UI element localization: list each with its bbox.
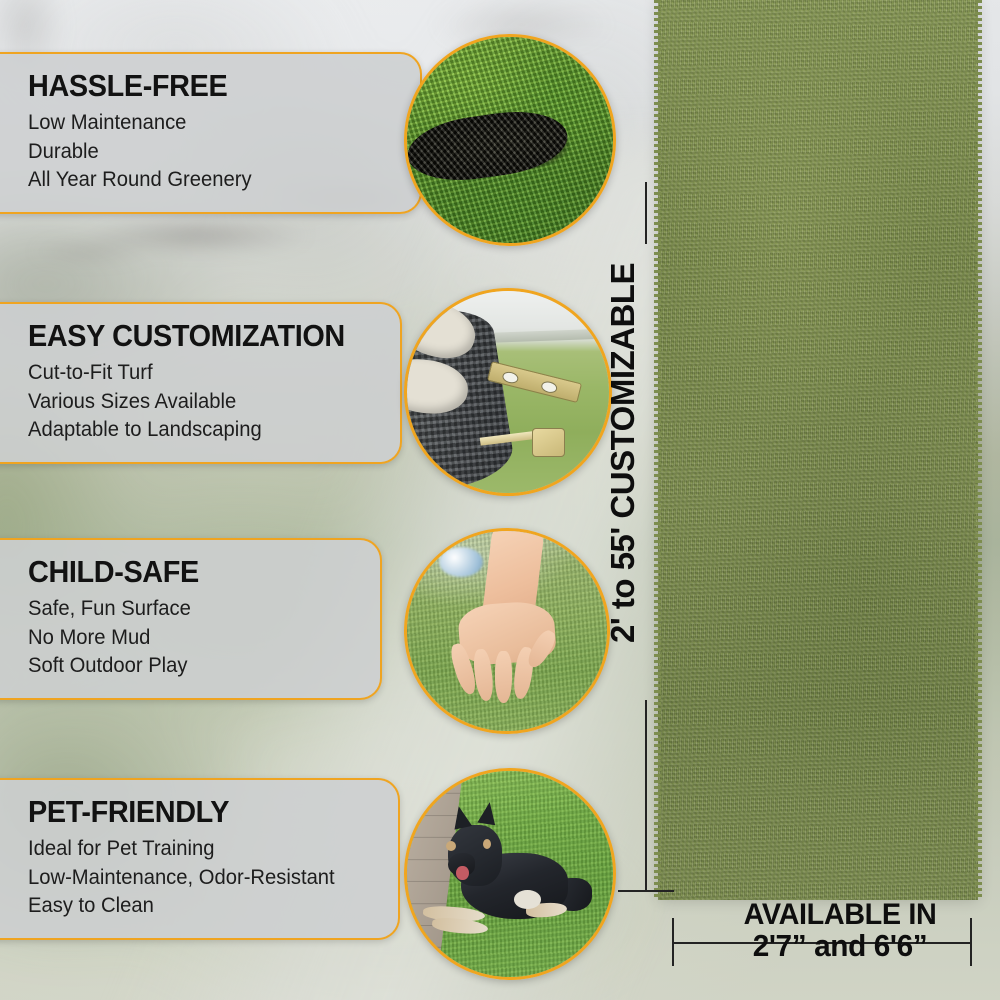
- feature-panel-pet-friendly: PET-FRIENDLY Ideal for Pet Training Low-…: [0, 778, 400, 940]
- feature-bullet: Safe, Fun Surface: [28, 594, 340, 623]
- feature-panel-bullets: Safe, Fun Surface No More Mud Soft Outdo…: [28, 594, 360, 680]
- feature-bullet: Various Sizes Available: [28, 387, 359, 416]
- feature-bullet: Easy to Clean: [28, 891, 357, 920]
- length-dimension-label: 2' to 55' CUSTOMIZABLE: [604, 263, 642, 643]
- feature-panel-easy-customization: EASY CUSTOMIZATION Cut-to-Fit Turf Vario…: [0, 302, 402, 464]
- feature-bullet: Low Maintenance: [28, 108, 378, 137]
- tape-measure: [532, 428, 564, 456]
- feature-panel-bullets: Cut-to-Fit Turf Various Sizes Available …: [28, 358, 380, 444]
- dog-tongue: [456, 866, 468, 880]
- dog-lying-on-turf-photo: [404, 768, 616, 980]
- artificial-turf-roll-strip: [658, 0, 978, 900]
- feature-panel-bullets: Ideal for Pet Training Low-Maintenance, …: [28, 834, 378, 920]
- feature-panel-title: HASSLE-FREE: [28, 70, 374, 102]
- feature-bullet: All Year Round Greenery: [28, 165, 378, 194]
- length-dimension-callout: 2' to 55' CUSTOMIZABLE: [600, 238, 646, 668]
- feature-bullet: Ideal for Pet Training: [28, 834, 357, 863]
- dog-chest-marking: [514, 890, 541, 909]
- feature-bullet: Durable: [28, 137, 378, 166]
- photo-content: [407, 291, 609, 493]
- length-dimension-end-tick: [618, 890, 674, 892]
- gloved-hands-rolling-turf-photo: [404, 288, 612, 496]
- turf-roll-with-backing-photo: [404, 34, 616, 246]
- feature-bullet: Cut-to-Fit Turf: [28, 358, 359, 387]
- photo-content: [407, 771, 613, 977]
- finger: [495, 651, 512, 703]
- width-dimension-callout: AVAILABLE IN 2'7” and 6'6”: [680, 900, 1000, 980]
- feature-panel-hassle-free: HASSLE-FREE Low Maintenance Durable All …: [0, 52, 422, 214]
- width-dimension-label-line1: AVAILABLE IN: [686, 900, 993, 930]
- feature-panel-bullets: Low Maintenance Durable All Year Round G…: [28, 108, 400, 194]
- feature-panel-title: CHILD-SAFE: [28, 556, 337, 588]
- photo-content: [407, 37, 613, 243]
- length-dimension-line-lower: [645, 700, 647, 890]
- feature-bullet: Soft Outdoor Play: [28, 651, 340, 680]
- photo-content: [407, 531, 607, 731]
- turf-backing-mesh: [404, 104, 571, 188]
- background-ball: [439, 547, 483, 577]
- dog-ear: [450, 804, 472, 829]
- feature-bullet: Adaptable to Landscaping: [28, 415, 359, 444]
- child-hand-on-grass-photo: [404, 528, 610, 734]
- width-dimension-label-line2: 2'7” and 6'6”: [686, 930, 993, 963]
- length-dimension-line-upper: [645, 182, 647, 244]
- feature-bullet: Low-Maintenance, Odor-Resistant: [28, 863, 357, 892]
- feature-bullet: No More Mud: [28, 623, 340, 652]
- feature-panel-title: PET-FRIENDLY: [28, 796, 354, 828]
- dog-ear: [477, 801, 498, 826]
- feature-panel-child-safe: CHILD-SAFE Safe, Fun Surface No More Mud…: [0, 538, 382, 700]
- feature-panel-title: EASY CUSTOMIZATION: [28, 320, 355, 352]
